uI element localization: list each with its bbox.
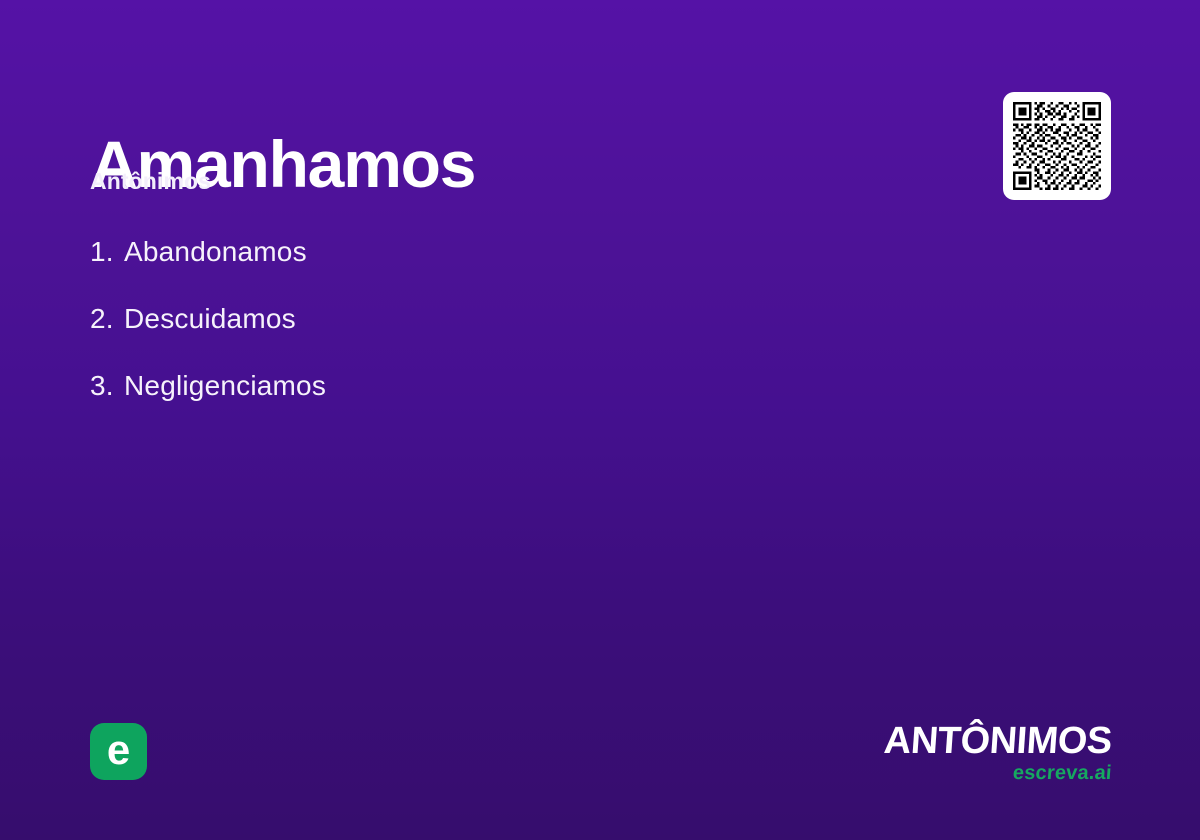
page-subtitle: Antônimos (90, 168, 211, 195)
list-item-index: 3. (90, 372, 124, 400)
escreva-badge[interactable]: e (90, 723, 147, 780)
qr-code-icon (1013, 102, 1101, 190)
footer-logo: ANTÔNIMOS escreva.ai (884, 722, 1112, 783)
footer-logo-domain: escreva.ai (884, 763, 1113, 783)
list-item-index: 2. (90, 305, 124, 333)
list-item-label: Abandonamos (124, 236, 307, 267)
list-item-label: Negligenciamos (124, 370, 326, 401)
list-item-index: 1. (90, 238, 124, 266)
antonyms-list: 1.Abandonamos 2.Descuidamos 3.Negligenci… (90, 238, 790, 439)
list-item: 3.Negligenciamos (90, 372, 790, 439)
qr-code-panel[interactable] (1003, 92, 1111, 200)
footer-logo-title: ANTÔNIMOS (883, 722, 1113, 760)
list-item-label: Descuidamos (124, 303, 296, 334)
word-card: Amanhamos Antônimos 1.Abandonamos 2.Desc… (0, 0, 1200, 840)
list-item: 1.Abandonamos (90, 238, 790, 305)
list-item: 2.Descuidamos (90, 305, 790, 372)
escreva-badge-letter: e (107, 729, 130, 771)
